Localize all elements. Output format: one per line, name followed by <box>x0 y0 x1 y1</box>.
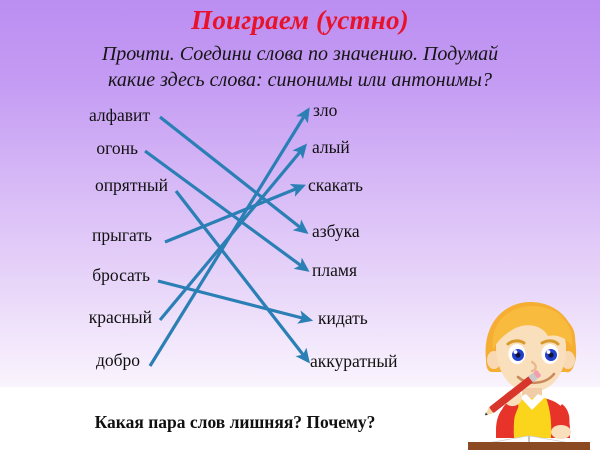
instruction-line-2: какие здесь слова: синонимы или антонимы… <box>12 67 588 93</box>
connection-arrow <box>160 117 306 232</box>
left-word[interactable]: алфавит <box>89 107 150 125</box>
right-word[interactable]: аккуратный <box>310 353 397 371</box>
connection-arrow <box>176 191 308 361</box>
connection-arrow <box>145 151 307 270</box>
right-word[interactable]: скакать <box>308 177 363 195</box>
bottom-question-text: Какая пара слов лишняя? Почему? <box>0 412 470 433</box>
left-word[interactable]: огонь <box>96 140 138 158</box>
right-word[interactable]: алый <box>312 139 350 157</box>
right-word[interactable]: пламя <box>312 262 357 280</box>
right-word[interactable]: зло <box>313 102 337 120</box>
connection-arrow <box>160 146 305 320</box>
left-word[interactable]: опрятный <box>95 177 168 195</box>
slide-instructions: Прочти. Соедини слова по значению. Подум… <box>12 41 588 94</box>
left-word[interactable]: добро <box>96 352 140 370</box>
connection-arrow <box>150 110 308 366</box>
instruction-line-1: Прочти. Соедини слова по значению. Подум… <box>12 41 588 67</box>
connection-arrow <box>165 186 303 242</box>
boy-with-pencil-and-book-icon <box>462 294 596 450</box>
left-word[interactable]: прыгать <box>92 227 152 245</box>
connection-arrow <box>158 281 310 320</box>
page-title: Поиграем (устно) <box>0 6 600 34</box>
slide-canvas: Поиграем (устно) Прочти. Соедини слова п… <box>0 0 600 450</box>
right-word[interactable]: азбука <box>312 223 360 241</box>
left-word[interactable]: бросать <box>92 267 150 285</box>
left-word[interactable]: красный <box>89 309 152 327</box>
right-word[interactable]: кидать <box>318 310 368 328</box>
